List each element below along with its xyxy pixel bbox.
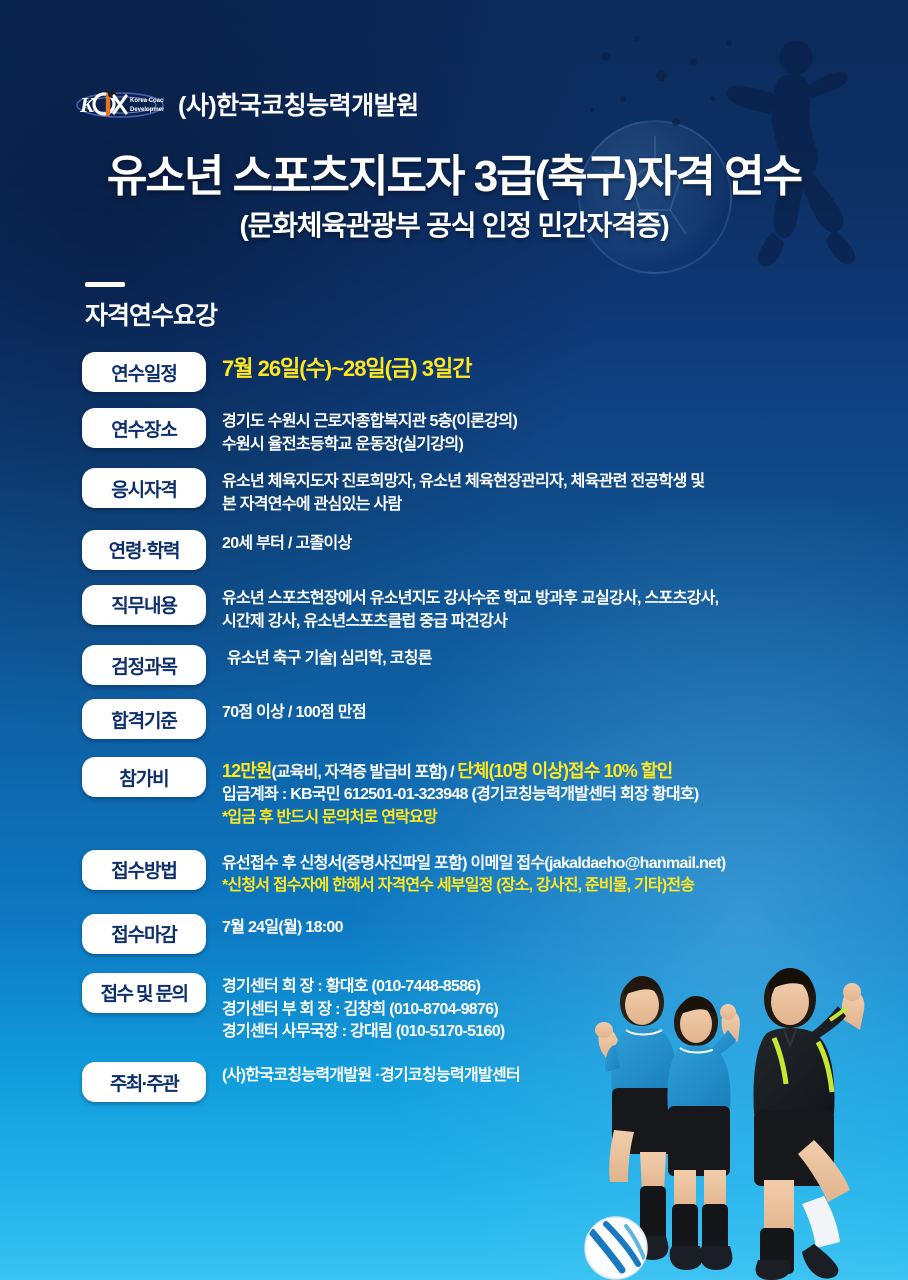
- poster-root: K Korea Coaching Development Center (사)한…: [0, 0, 908, 1280]
- table-row-duty: 직무내용 유소년 스포츠현장에서 유소년지도 강사수준 학교 방과후 교실강사,…: [82, 585, 882, 633]
- table-row-contact: 접수 및 문의 경기센터 회 장 : 황대호 (010-7448-8586) 경…: [82, 973, 882, 1044]
- training-date-text: 7월 26일(수)~28일(금) 3일간: [222, 355, 882, 384]
- deadline-text: 7월 24일(월) 18:00: [222, 917, 882, 940]
- qualification-line-1: 유소년 체육지도자 진로희망자, 유소년 체육현장관리자, 체육관련 전공학생 …: [222, 471, 882, 494]
- row-value-pass-criteria: 70점 이상 / 100점 만점: [206, 699, 882, 725]
- row-label-fee: 참가비: [82, 757, 206, 797]
- row-value-qualification: 유소년 체육지도자 진로희망자, 유소년 체육현장관리자, 체육관련 전공학생 …: [206, 468, 882, 516]
- contact-line-3: 경기센터 사무국장 : 강대림 (010-5170-5160): [222, 1021, 882, 1044]
- apply-line-2: *신청서 접수자에 한해서 자격연수 세부일정 (장소, 강사진, 준비물, 기…: [222, 875, 882, 898]
- apply-line-1: 유선접수 후 신청서(증명사진파일 포함) 이메일 접수(jakaldaeho@…: [222, 853, 882, 876]
- row-label-pass-criteria: 합격기준: [82, 699, 206, 739]
- row-value-fee: 12만원(교육비, 자격증 발급비 포함) / 단체(10명 이상)접수 10%…: [206, 757, 882, 829]
- kcdc-logo-icon: K Korea Coaching Development Center: [76, 87, 164, 121]
- fee-amount-note: (교육비, 자격증 발급비 포함) /: [272, 764, 458, 781]
- table-row-pass-criteria: 합격기준 70점 이상 / 100점 만점: [82, 699, 882, 739]
- row-label-place: 연수장소: [82, 408, 206, 448]
- fee-warning: *입금 후 반드시 문의처로 연락요망: [222, 807, 882, 830]
- row-value-contact: 경기센터 회 장 : 황대호 (010-7448-8586) 경기센터 부 회 …: [206, 973, 882, 1044]
- row-label-date: 연수일정: [82, 352, 206, 392]
- fee-headline: 12만원(교육비, 자격증 발급비 포함) / 단체(10명 이상)접수 10%…: [222, 760, 882, 784]
- row-label-deadline: 접수마감: [82, 914, 206, 954]
- row-label-apply-method: 접수방법: [82, 850, 206, 890]
- row-label-qualification: 응시자격: [82, 468, 206, 508]
- row-value-date: 7월 26일(수)~28일(금) 3일간: [206, 352, 882, 384]
- info-table: 연수일정 7월 26일(수)~28일(금) 3일간 연수장소 경기도 수원시 근…: [82, 352, 882, 1111]
- row-value-place: 경기도 수원시 근로자종합복지관 5층(이론강의) 수원시 율전초등학교 운동장…: [206, 408, 882, 456]
- contact-line-2: 경기센터 부 회 장 : 김창희 (010-8704-9876): [222, 999, 882, 1022]
- row-label-contact: 접수 및 문의: [82, 973, 206, 1013]
- row-label-subjects: 검정과목: [82, 645, 206, 685]
- logo-tagline-2: Development Center: [130, 107, 164, 113]
- soccer-ball: [585, 1217, 647, 1279]
- table-row-fee: 참가비 12만원(교육비, 자격증 발급비 포함) / 단체(10명 이상)접수…: [82, 757, 882, 829]
- row-label-duty: 직무내용: [82, 585, 206, 625]
- brand-row: K Korea Coaching Development Center (사)한…: [76, 86, 419, 122]
- row-value-age: 20세 부터 / 고졸이상: [206, 530, 882, 556]
- row-value-subjects: 유소년 축구 기술| 심리학, 코칭론: [206, 645, 882, 671]
- row-value-apply-method: 유선접수 후 신청서(증명사진파일 포함) 이메일 접수(jakaldaeho@…: [206, 850, 882, 898]
- fee-group-discount: 단체(10명 이상)접수 10% 할인: [457, 761, 672, 781]
- row-label-host: 주최·주관: [82, 1062, 206, 1102]
- logo-tagline-1: Korea Coaching: [130, 98, 164, 104]
- poster-subtitle: (문화체육관광부 공식 인정 민간자격증): [0, 204, 908, 244]
- poster-title: 유소년 스포츠지도자 3급(축구)자격 연수: [0, 140, 908, 204]
- contact-line-1: 경기센터 회 장 : 황대호 (010-7448-8586): [222, 976, 882, 999]
- table-row-age: 연령·학력 20세 부터 / 고졸이상: [82, 530, 882, 570]
- section-heading: 자격연수요강: [85, 296, 217, 332]
- duty-line-1: 유소년 스포츠현장에서 유소년지도 강사수준 학교 방과후 교실강사, 스포츠강…: [222, 588, 882, 611]
- row-value-duty: 유소년 스포츠현장에서 유소년지도 강사수준 학교 방과후 교실강사, 스포츠강…: [206, 585, 882, 633]
- pass-criteria-text: 70점 이상 / 100점 만점: [222, 702, 882, 725]
- table-row-subjects: 검정과목 유소년 축구 기술| 심리학, 코칭론: [82, 645, 882, 685]
- table-row-date: 연수일정 7월 26일(수)~28일(금) 3일간: [82, 352, 882, 392]
- host-organizer-text: (사)한국코칭능력개발원 ·경기코칭능력개발센터: [222, 1065, 882, 1088]
- subjects-text: 유소년 축구 기술| 심리학, 코칭론: [222, 648, 882, 671]
- section-accent-bar: [85, 282, 125, 287]
- row-value-deadline: 7월 24일(월) 18:00: [206, 914, 882, 940]
- table-row-deadline: 접수마감 7월 24일(월) 18:00: [82, 914, 882, 954]
- table-row-place: 연수장소 경기도 수원시 근로자종합복지관 5층(이론강의) 수원시 율전초등학…: [82, 408, 882, 456]
- organization-name: (사)한국코칭능력개발원: [178, 86, 419, 122]
- table-row-qualification: 응시자격 유소년 체육지도자 진로희망자, 유소년 체육현장관리자, 체육관련 …: [82, 468, 882, 516]
- fee-bank-account: 입금계좌 : KB국민 612501-01-323948 (경기코칭능력개발센터…: [222, 784, 882, 807]
- qualification-line-2: 본 자격연수에 관심있는 사람: [222, 494, 882, 517]
- duty-line-2: 시간제 강사, 유소년스포츠클럽 중급 파견강사: [222, 611, 882, 634]
- table-row-apply-method: 접수방법 유선접수 후 신청서(증명사진파일 포함) 이메일 접수(jakald…: [82, 850, 882, 898]
- row-value-host: (사)한국코칭능력개발원 ·경기코칭능력개발센터: [206, 1062, 882, 1088]
- table-row-host: 주최·주관 (사)한국코칭능력개발원 ·경기코칭능력개발센터: [82, 1062, 882, 1102]
- row-label-age: 연령·학력: [82, 530, 206, 570]
- fee-amount: 12만원: [222, 761, 272, 781]
- place-line-2: 수원시 율전초등학교 운동장(실기강의): [222, 434, 882, 457]
- age-education-text: 20세 부터 / 고졸이상: [222, 533, 882, 556]
- place-line-1: 경기도 수원시 근로자종합복지관 5층(이론강의): [222, 411, 882, 434]
